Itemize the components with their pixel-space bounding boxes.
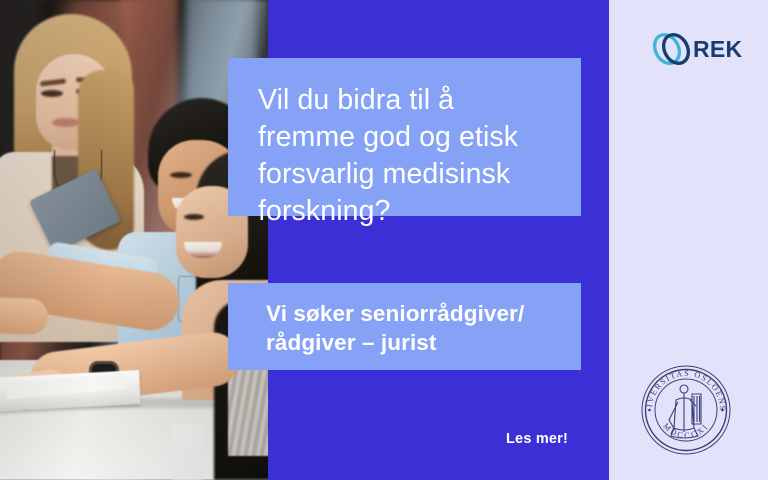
university-of-oslo-seal-icon: UNIVERSITAS OSLOENSIS MDCCCXI — [638, 362, 734, 458]
headline-box: Vil du bidra til å fremme god og etisk f… — [228, 58, 581, 216]
rek-logo[interactable]: REK — [650, 26, 742, 72]
subheadline-box: Vi søker seniorrådgiver/ rådgiver – juri… — [228, 283, 581, 370]
svg-text:MDCCCXI: MDCCCXI — [661, 421, 710, 440]
subheadline-text: Vi søker seniorrådgiver/ rådgiver – juri… — [266, 299, 557, 357]
rek-wordmark: REK — [693, 38, 742, 61]
headline-text: Vil du bidra til å fremme god og etisk f… — [258, 82, 555, 230]
seal-top-text: UNIVERSITAS OSLOENSIS — [638, 362, 727, 412]
seal-bottom-text: MDCCCXI — [661, 421, 710, 440]
rek-interlocking-rings-icon — [650, 27, 694, 71]
read-more-link[interactable]: Les mer! — [506, 431, 568, 447]
recruitment-banner: Vil du bidra til å fremme god og etisk f… — [0, 0, 768, 480]
svg-text:UNIVERSITAS OSLOENSIS: UNIVERSITAS OSLOENSIS — [638, 362, 727, 412]
